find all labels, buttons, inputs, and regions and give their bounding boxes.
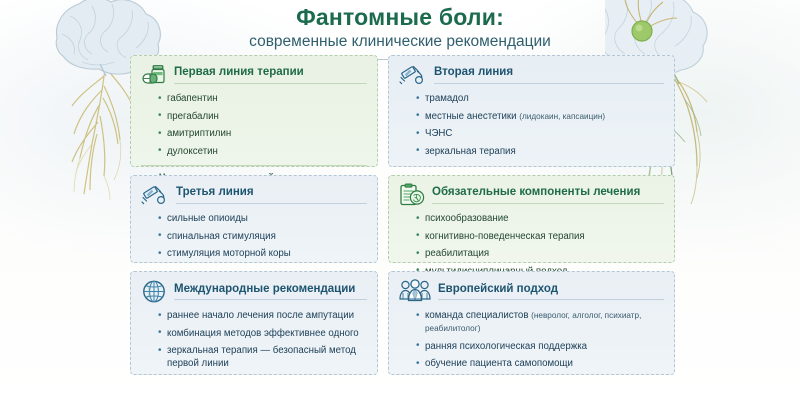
card-header: Европейский подход <box>399 279 664 304</box>
clipboard-brain-icon <box>399 183 425 207</box>
item-text: трамадол <box>425 93 469 104</box>
list-item: габапентин <box>167 92 367 105</box>
card-header: Международные рекомендации <box>141 279 367 304</box>
card-slot: Международные рекомендации раннее начало… <box>130 271 378 375</box>
list-item: дулоксетин <box>167 145 367 158</box>
page-header: Фантомные боли: современные клинические … <box>0 4 800 60</box>
team-people-icon <box>399 279 431 304</box>
syringe-icon <box>399 63 427 87</box>
card-item-list: габапентин прегабалин амитриптилин дулок… <box>141 92 367 158</box>
list-item: стимуляция моторной коры <box>167 247 367 260</box>
card-item-list: психообразование когнитивно-поведенческа… <box>399 212 664 278</box>
card-international-guidelines[interactable]: Международные рекомендации раннее начало… <box>130 271 378 375</box>
card-item-list: сильные опиоиды спинальная стимуляция ст… <box>141 212 367 260</box>
card-header: Первая линия терапии <box>141 63 367 87</box>
card-slot: Европейский подход команда специалистов … <box>388 271 675 375</box>
pill-bottle-icon <box>141 63 167 87</box>
list-item: местные анестетики (лидокаин, капсаицин) <box>425 110 664 123</box>
card-slot: Третья линия сильные опиоиды спинальная … <box>130 175 378 263</box>
card-title: Первая линия терапии <box>174 66 367 83</box>
list-item: спинальная стимуляция <box>167 230 367 243</box>
list-item: комбинация методов эффективнее одного <box>167 327 367 340</box>
card-title: Международные рекомендации <box>174 283 367 300</box>
cards-row-3: Международные рекомендации раннее начало… <box>130 271 675 375</box>
list-item: сильные опиоиды <box>167 212 367 225</box>
card-header: Обязательные компоненты лечения <box>399 183 664 207</box>
card-european-approach[interactable]: Европейский подход команда специалистов … <box>388 271 675 375</box>
card-first-line-therapy[interactable]: Первая линия терапии габапентин прегабал… <box>130 55 378 167</box>
list-item: ранняя психологическая поддержка <box>425 340 664 353</box>
list-item: зеркальная терапия <box>425 145 664 158</box>
card-slot: Первая линия терапии габапентин прегабал… <box>130 55 378 167</box>
page-title: Фантомные боли: <box>0 4 800 30</box>
list-item: трамадол <box>425 92 664 105</box>
item-text: обучение пациента самопомощи <box>425 358 573 369</box>
cards-row-1: Первая линия терапии габапентин прегабал… <box>130 55 675 167</box>
card-slot: Вторая линия трамадол местные анестетики… <box>388 55 675 167</box>
item-text: зеркальная терапия <box>425 146 516 157</box>
list-item: ЧЭНС <box>425 127 664 140</box>
item-text: команда специалистов <box>425 310 531 321</box>
item-text: ранняя психологическая поддержка <box>425 341 587 352</box>
item-text: ЧЭНС <box>425 128 452 139</box>
list-item: психообразование <box>425 212 664 225</box>
card-mandatory-components[interactable]: Обязательные компоненты лечения психообр… <box>388 175 675 263</box>
item-parenthetical: (лидокаин, капсаицин) <box>519 112 605 121</box>
card-header: Третья линия <box>141 183 367 207</box>
list-item: раннее начало лечения после ампутации <box>167 309 367 322</box>
card-title: Вторая линия <box>434 66 664 83</box>
list-item: команда специалистов (невролог, алголог,… <box>425 309 664 335</box>
list-item: прегабалин <box>167 110 367 123</box>
card-third-line[interactable]: Третья линия сильные опиоиды спинальная … <box>130 175 378 263</box>
page-subtitle: современные клинические рекомендации <box>0 33 800 52</box>
card-item-list: трамадол местные анестетики (лидокаин, к… <box>399 92 664 158</box>
list-item: амитриптилин <box>167 127 367 140</box>
card-header: Вторая линия <box>399 63 664 87</box>
card-item-list: команда специалистов (невролог, алголог,… <box>399 309 664 370</box>
card-title: Обязательные компоненты лечения <box>432 186 664 203</box>
list-item: зеркальная терапия — безопасный метод пе… <box>167 344 367 370</box>
list-item: реабилитация <box>425 247 664 260</box>
card-title: Европейский подход <box>438 283 664 300</box>
globe-icon <box>141 279 167 304</box>
list-item: обучение пациента самопомощи <box>425 357 664 370</box>
cards-grid: Первая линия терапии габапентин прегабал… <box>130 55 675 383</box>
list-item: когнитивно-поведенческая терапия <box>425 230 664 243</box>
syringe-icon <box>141 183 169 207</box>
cards-row-2: Третья линия сильные опиоиды спинальная … <box>130 175 675 263</box>
infographic-canvas: Фантомные боли: современные клинические … <box>0 0 800 400</box>
item-text: местные анестетики <box>425 111 519 122</box>
card-slot: Обязательные компоненты лечения психообр… <box>388 175 675 263</box>
card-title: Третья линия <box>176 186 367 203</box>
card-item-list: раннее начало лечения после ампутации ко… <box>141 309 367 370</box>
card-second-line[interactable]: Вторая линия трамадол местные анестетики… <box>388 55 675 167</box>
